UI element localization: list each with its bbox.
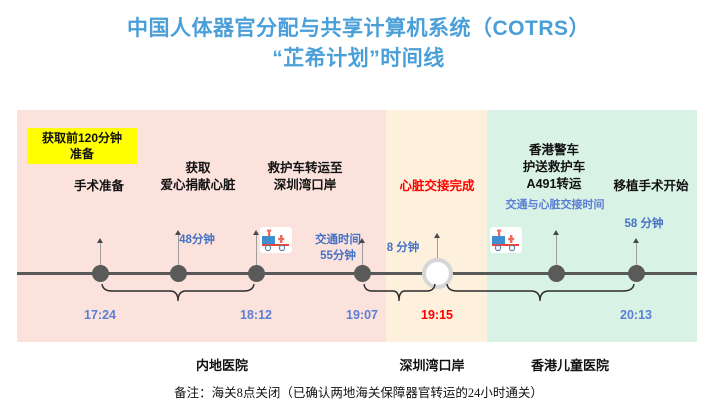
ambulance-icon-2 bbox=[490, 227, 522, 253]
event-hk-escort-line-3: A491转运 bbox=[499, 176, 609, 193]
time-tick-1724: 17:24 bbox=[65, 308, 135, 322]
event-organ-retrieval-line-1: 获取 bbox=[139, 160, 257, 177]
timeline-node-port-arrival[interactable] bbox=[354, 265, 371, 282]
timeline-node-surgery-prep[interactable] bbox=[92, 265, 109, 282]
duration-hk-line-1: 交通与心脏交接时间 bbox=[490, 198, 620, 213]
duration-handover: 8 分钟 bbox=[367, 240, 439, 256]
duration-hk-transport-value: 58 分钟 bbox=[604, 216, 684, 232]
event-label-surgery-prep: 手术准备 bbox=[45, 178, 153, 195]
event-label-transplant-start: 移植手术开始 bbox=[605, 178, 697, 195]
stem-tip-port-arrival bbox=[359, 238, 365, 243]
place-label-hk-childrens-hospital: 香港儿童医院 bbox=[500, 355, 640, 374]
brace-retrieval-span bbox=[100, 282, 256, 304]
time-tick-2013-label: 20:13 bbox=[620, 308, 652, 322]
duration-hk-transport: 交通与心脏交接时间 bbox=[490, 198, 620, 213]
highlight-line-2: 准备 bbox=[31, 146, 133, 162]
duration-retrieval: 48分钟 bbox=[157, 232, 237, 248]
event-label-hk-escort: 香港警车 护送救护车 A491转运 bbox=[499, 142, 609, 193]
title-line-2: “芷希计划”时间线 bbox=[0, 44, 717, 74]
timeline-node-ambulance-transfer[interactable] bbox=[248, 265, 265, 282]
highlight-line-1: 获取前120分钟 bbox=[31, 130, 133, 146]
duration-hk-line-2: 58 分钟 bbox=[625, 218, 664, 230]
time-tick-2013: 20:13 bbox=[601, 308, 671, 322]
stem-tip-heart-handover bbox=[434, 233, 440, 238]
place-label-hk-text: 香港儿童医院 bbox=[531, 358, 609, 373]
page-title: 中国人体器官分配与共享计算机系统（COTRS） “芷希计划”时间线 bbox=[0, 14, 717, 75]
event-hk-escort-line-1: 香港警车 bbox=[499, 142, 609, 159]
timeline-node-hk-escort[interactable] bbox=[548, 265, 565, 282]
event-label-organ-retrieval: 获取 爱心捐献心脏 bbox=[139, 160, 257, 194]
event-heart-handover-line-1: 心脏交接完成 bbox=[383, 178, 491, 195]
time-tick-1915-label: 19:15 bbox=[421, 308, 453, 322]
time-tick-1907-label: 19:07 bbox=[346, 308, 378, 322]
timeline-node-organ-retrieval[interactable] bbox=[170, 265, 187, 282]
stem-heart-handover bbox=[437, 238, 438, 260]
title-line-1: 中国人体器官分配与共享计算机系统（COTRS） bbox=[0, 14, 717, 44]
time-tick-1907: 19:07 bbox=[327, 308, 397, 322]
highlight-preparation-box: 获取前120分钟 准备 bbox=[27, 128, 137, 164]
event-ambulance-transfer-line-2: 深圳湾口岸 bbox=[250, 177, 360, 194]
stem-tip-ambulance-transfer bbox=[253, 230, 259, 235]
place-label-mainland-text: 内地医院 bbox=[196, 358, 248, 373]
footnote: 备注：海关8点关闭（已确认两地海关保障器官转运的24小时通关） bbox=[0, 382, 717, 401]
event-transplant-start-line-1: 移植手术开始 bbox=[605, 178, 697, 195]
stem-tip-surgery-prep bbox=[97, 238, 103, 243]
place-label-shenzhen-bay-port: 深圳湾口岸 bbox=[377, 355, 487, 374]
event-label-ambulance-transfer: 救护车转运至 深圳湾口岸 bbox=[250, 160, 360, 194]
place-label-mainland-hospital: 内地医院 bbox=[142, 355, 302, 374]
time-tick-1812-label: 18:12 bbox=[240, 308, 272, 322]
time-tick-1724-label: 17:24 bbox=[84, 308, 116, 322]
stem-tip-hk-escort bbox=[553, 230, 559, 235]
event-hk-escort-line-2: 护送救护车 bbox=[499, 159, 609, 176]
brace-hk-span bbox=[445, 282, 636, 304]
time-tick-1915: 19:15 bbox=[402, 308, 472, 322]
event-label-heart-handover: 心脏交接完成 bbox=[383, 178, 491, 195]
brace-handover-span bbox=[362, 282, 437, 304]
place-label-port-text: 深圳湾口岸 bbox=[399, 358, 464, 373]
time-tick-1812: 18:12 bbox=[221, 308, 291, 322]
duration-retrieval-text: 48分钟 bbox=[179, 234, 215, 246]
event-surgery-prep-line-1: 手术准备 bbox=[45, 178, 153, 195]
stem-tip-transplant-start bbox=[633, 238, 639, 243]
event-ambulance-transfer-line-1: 救护车转运至 bbox=[250, 160, 360, 177]
ambulance-icon-1 bbox=[260, 227, 292, 253]
timeline-panel: 获取前120分钟 准备 手术准备 获取 爱心捐献心脏 救护车转运至 深圳湾口岸 … bbox=[17, 110, 697, 342]
duration-handover-text: 8 分钟 bbox=[387, 242, 420, 254]
event-organ-retrieval-line-2: 爱心捐献心脏 bbox=[139, 177, 257, 194]
stem-tip-organ-retrieval bbox=[175, 230, 181, 235]
timeline-node-transplant-start[interactable] bbox=[628, 265, 645, 282]
